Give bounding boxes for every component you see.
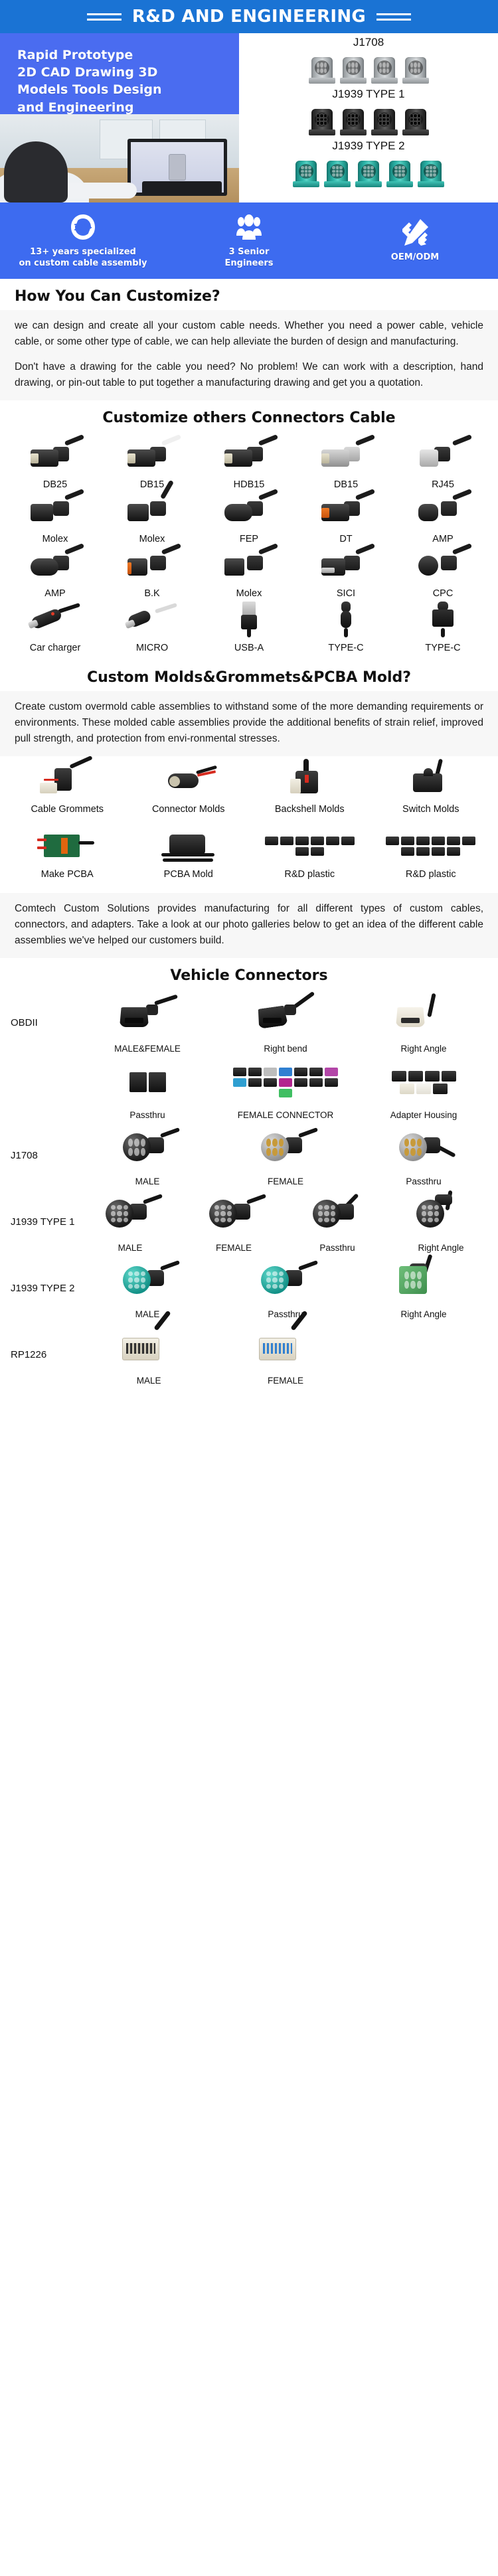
rj45-cable-icon [414,436,471,477]
type-c-icon [333,599,359,640]
hero-engineer-photo [0,114,239,202]
molex-rect-icon [220,544,278,586]
vehicle-connector-card[interactable]: MALE [78,1190,182,1253]
mold-card[interactable]: R&D plastic [371,825,492,880]
amp-round-icon [27,544,84,586]
female-connector-set-icon [232,1058,339,1107]
j1939-type2-right-angle-icon [395,1257,452,1306]
mold-card[interactable]: Connector Molds [128,760,250,815]
dsub-cable-icon [27,436,84,477]
switch-mold-icon [401,760,461,801]
vehicle-row-items: MALE Passthru Ri [78,1257,493,1319]
connector-label: TYPE-C [328,643,363,653]
connector-label: TYPE-C [425,643,460,653]
connector-card[interactable]: B.K [104,544,201,599]
vehicle-connector-card[interactable]: MALE [78,1124,216,1186]
vehicle-connectors-table: OBDII MALE&FEMALE Right bend [0,989,498,1398]
connector-card[interactable]: DB15 [104,436,201,490]
banner-rule-left-icon [87,13,122,21]
j1939-type2-passthru-icon [257,1257,314,1306]
stat-oem-odm: OEM/ODM [332,218,498,263]
rp1226-female-icon [254,1323,317,1372]
connector-label: AMP [44,588,65,599]
vehicle-row-label: J1708 [5,1150,78,1161]
connector-label: DB25 [43,479,67,490]
connector-card[interactable]: Molex [104,490,201,544]
banner-rule-right-icon [376,13,411,21]
dsub-cable-icon [124,436,181,477]
vehicle-row-items: Passthru FEMALE CONNECTOR [78,1058,493,1120]
stat-senior-engineers: 3 Senior Engineers [166,212,332,269]
connector-card[interactable]: USB-A [201,599,297,653]
connector-card[interactable]: DB25 [7,436,104,490]
vehicle-connector-card[interactable]: MALE&FEMALE [78,991,216,1054]
connector-label: B.K [144,588,159,599]
connector-mold-icon [159,760,218,801]
solutions-body-copy: Comtech Custom Solutions provides manufa… [0,893,498,958]
vehicle-connector-caption: Adapter Housing [390,1110,457,1120]
stat-years-specialized: 13+ 13+ years specialized on custom cabl… [0,212,166,269]
section-heading-vehicle-connectors: Vehicle Connectors [0,958,498,989]
vehicle-connector-caption: FEMALE [268,1176,303,1186]
j1939-type1-right-angle-icon [412,1190,469,1240]
connector-j1708-icon [340,54,367,85]
j1708-male-icon [119,1124,176,1173]
vehicle-row-items: MALE FEMALE Passthru [78,1124,493,1186]
mold-card[interactable]: Switch Molds [371,760,492,815]
vehicle-connector-caption: Right Angle [400,1309,446,1319]
section-heading-customize-others-connectors: Customize others Connectors Cable [0,400,498,432]
j1939-type2-male-icon [119,1257,176,1306]
plastic-parts-cluster [384,837,477,856]
hero-headline-line-1: Rapid Prototype [17,46,222,64]
connector-j1939-type2-icon [418,158,444,189]
others-connectors-grid: DB25 DB15 HDB15 DB15 RJ45 Molex Molex FE… [0,432,498,660]
svg-text:13+: 13+ [74,223,93,233]
connector-card[interactable]: AMP [7,544,104,599]
mold-label: Make PCBA [41,869,94,880]
plastic-parts-cluster [263,837,356,856]
vehicle-row-items: MALE FEMALE Passthru [78,1190,493,1253]
connector-card[interactable]: HDB15 [201,436,297,490]
connector-card[interactable]: TYPE-C [297,599,394,653]
dt-connector-icon [317,490,374,531]
bk-connector-icon [124,544,181,586]
section-heading-how-you-can-customize: How You Can Customize? [0,279,498,310]
connector-label: MICRO [136,643,168,653]
stat-label: 13+ years specialized on custom cable as… [19,247,147,269]
vehicle-row-label: J1939 TYPE 2 [5,1283,78,1294]
micro-usb-icon [125,599,179,640]
sici-connector-icon [317,544,374,586]
rp1226-male-icon [117,1323,181,1372]
connector-j1939-type2-icon [324,158,351,189]
connector-card[interactable]: DT [297,490,394,544]
connector-label: HDB15 [234,479,265,490]
vehicle-connector-card[interactable]: FEMALE [217,1323,354,1386]
connector-card[interactable]: Molex [201,544,297,599]
table-row: OBDII MALE&FEMALE Right bend [5,989,493,1056]
connector-j1708-icon [402,54,429,85]
stat-label: 3 Senior Engineers [225,247,274,269]
hero-section: Rapid Prototype 2D CAD Drawing 3D Models… [0,33,498,202]
vehicle-connector-card[interactable]: FEMALE [182,1190,286,1253]
connector-label: USB-A [234,643,264,653]
vehicle-connector-caption: MALE [135,1176,160,1186]
connector-label: RJ45 [432,479,454,490]
mold-card[interactable]: Make PCBA [7,825,128,880]
vehicle-row-items: MALE&FEMALE Right bend Right Angle [78,991,493,1054]
mold-label: Switch Molds [402,804,459,815]
molds-body-copy: Create custom overmold cable assemblies … [0,691,498,756]
connector-card[interactable]: FEP [201,490,297,544]
vehicle-connector-caption: FEMALE [216,1243,252,1253]
vehicle-connector-caption: MALE [135,1309,160,1319]
company-stats-strip: 13+ 13+ years specialized on custom cabl… [0,202,498,279]
hero-left-column: Rapid Prototype 2D CAD Drawing 3D Models… [0,33,239,202]
molds-grid-row-2: Make PCBA PCBA Mold R&D plastic [0,821,498,886]
vehicle-connector-caption: FEMALE [268,1376,303,1386]
j1939-type1-female-icon [205,1190,262,1240]
mold-label: Backshell Molds [275,804,345,815]
hero-connector-group-label: J1939 TYPE 2 [239,139,498,153]
table-row: Passthru FEMALE CONNECTOR [5,1056,493,1122]
molds-grid-row-1: Cable Grommets Connector Molds [0,756,498,821]
mold-card[interactable]: Cable Grommets [7,760,128,815]
connector-card[interactable]: AMP [394,490,491,544]
mold-card[interactable]: Backshell Molds [249,760,371,815]
connector-label: Molex [42,534,68,544]
connector-card[interactable]: SICI [297,544,394,599]
connector-j1939-type1-icon [402,106,429,137]
vehicle-connector-caption: MALE [137,1376,161,1386]
vehicle-connector-card[interactable]: Adapter Housing [355,1058,493,1120]
mold-card[interactable]: R&D plastic [249,825,371,880]
connector-label: DT [339,534,352,544]
vehicle-connector-card[interactable]: Right Angle [389,1190,493,1253]
connector-label: DB15 [140,479,164,490]
hero-connector-row [239,50,498,85]
connector-j1939-type2-icon [355,158,382,189]
connector-card[interactable]: DB15 [297,436,394,490]
vehicle-connector-caption: Right Angle [418,1243,463,1253]
vehicle-row-items: MALE FEMALE [78,1323,493,1386]
vehicle-row-label: J1939 TYPE 1 [5,1216,78,1228]
vehicle-connector-caption: Right Angle [400,1044,446,1054]
customize-body-copy: we can design and create all your custom… [0,310,498,400]
vehicle-row-label: RP1226 [5,1349,78,1360]
connector-j1939-type1-icon [371,106,398,137]
vehicle-connector-caption: Right bend [264,1044,307,1054]
obd-right-bend-icon [254,991,317,1040]
vehicle-connector-caption: FEMALE CONNECTOR [238,1110,334,1120]
j1708-passthru-icon [395,1124,452,1173]
vehicle-connector-card[interactable]: MALE [80,1323,217,1386]
vehicle-connector-card[interactable]: Right Angle [355,991,493,1054]
car-charger-icon [29,599,82,640]
dsub-greyhood-cable-icon [317,436,374,477]
type-c-screw-icon [430,599,456,640]
vehicle-connector-card[interactable]: Right bend [216,991,355,1054]
rd-plastic-harness-icon [384,825,477,866]
cpc-circular-icon [414,544,471,586]
molex-pair-icon [27,490,84,531]
table-row: J1939 TYPE 2 MALE Passthru [5,1255,493,1321]
mold-card[interactable]: PCBA Mold [128,825,250,880]
connector-j1708-icon [309,54,335,85]
j1939-type1-male-icon [102,1190,159,1240]
vehicle-connector-card[interactable]: Passthru [216,1257,355,1319]
connector-label: AMP [432,534,453,544]
connector-j1939-type2-icon [386,158,413,189]
vehicle-connector-card[interactable]: Passthru [286,1190,389,1253]
vehicle-connector-caption: Passthru [129,1110,165,1120]
hdb15-cable-icon [220,436,278,477]
connector-label: SICI [337,588,355,599]
vehicle-connector-card[interactable]: FEMALE CONNECTOR [216,1058,355,1120]
j1708-female-icon [257,1124,314,1173]
stat-label: OEM/ODM [391,252,439,263]
connector-card[interactable]: Molex [7,490,104,544]
vehicle-connector-card[interactable]: FEMALE [216,1124,355,1186]
hero-headline-line-2: 2D CAD Drawing 3D [17,64,222,81]
connector-j1939-type2-icon [293,158,319,189]
connector-card[interactable]: RJ45 [394,436,491,490]
vehicle-connector-card[interactable]: Right Angle [355,1257,493,1319]
connector-j1939-type1-icon [340,106,367,137]
hero-connector-group-j1939-type-2: J1939 TYPE 2 [239,139,498,189]
vehicle-connector-card[interactable]: Passthru [355,1124,493,1186]
connector-j1939-type1-icon [309,106,335,137]
obd-passthru-icon [114,1058,181,1107]
connector-card[interactable]: CPC [394,544,491,599]
hero-headline-line-3: Models Tools Design [17,81,222,98]
people-group-icon [234,212,264,242]
connector-label: DB15 [334,479,358,490]
connector-label: Molex [236,588,262,599]
connector-label: Molex [139,534,165,544]
vehicle-connector-caption: MALE&FEMALE [114,1044,181,1054]
pcba-board-icon [37,825,97,866]
connector-card[interactable]: Car charger [7,599,104,653]
hero-connector-showcase: J1708 J1939 TYPE 1 J1939 TYPE [239,33,498,202]
pcba-overmold-icon [159,825,218,866]
usb-a-icon [236,599,262,640]
connector-card[interactable]: MICRO [104,599,201,653]
connector-j1708-icon [371,54,398,85]
mold-label: PCBA Mold [164,869,213,880]
amp-2pin-icon [414,490,471,531]
hero-connector-group-label: J1708 [239,36,498,49]
hero-connector-row [239,154,498,189]
customize-paragraph-1: we can design and create all your custom… [15,318,483,350]
mold-label: Cable Grommets [31,804,104,815]
pencil-ruler-icon [400,218,430,247]
product-detail-page: R&D AND ENGINEERING Rapid Prototype 2D C… [0,0,498,1398]
connector-card[interactable]: TYPE-C [394,599,491,653]
mold-label: R&D plastic [284,869,335,880]
hero-connector-group-label: J1939 TYPE 1 [239,88,498,101]
hero-connector-group-j1939-type-1: J1939 TYPE 1 [239,88,498,137]
vehicle-connector-caption: Passthru [319,1243,355,1253]
vehicle-connector-card[interactable]: MALE [78,1257,216,1319]
vehicle-row-label: OBDII [5,1017,78,1028]
solutions-paragraph: Comtech Custom Solutions provides manufa… [15,901,483,949]
rd-plastic-parts-icon [263,825,356,866]
mold-label: Connector Molds [152,804,225,815]
table-row: J1708 MALE FEMALE [5,1122,493,1188]
mold-label: R&D plastic [406,869,456,880]
molex-angle-icon [124,490,181,531]
section-banner-rd-engineering: R&D AND ENGINEERING [0,0,498,33]
molds-paragraph: Create custom overmold cable assemblies … [15,699,483,747]
connector-label: FEP [240,534,258,544]
vehicle-connector-caption: Passthru [406,1176,441,1186]
obd-right-angle-icon [392,991,456,1040]
table-row: J1939 TYPE 1 MALE FEMALE [5,1188,493,1255]
connector-label: CPC [433,588,454,599]
hero-connector-row [239,102,498,137]
fep-round-icon [220,490,278,531]
recycle-13-plus-icon: 13+ [68,212,98,242]
hero-headline-line-4: and Engineering [17,99,222,116]
table-row: RP1226 MALE FEMALE [5,1321,493,1388]
obd-male-female-icon [116,991,179,1040]
j1939-type1-passthru-icon [309,1190,366,1240]
vehicle-connector-card[interactable]: Passthru [78,1058,216,1120]
hero-connector-group-j1708: J1708 [239,36,498,85]
vehicle-row-spacer [354,1323,491,1386]
vehicle-connector-caption: MALE [118,1243,143,1253]
banner-title: R&D AND ENGINEERING [132,7,366,27]
connector-label: Car charger [30,643,81,653]
adapter-housing-set-icon [384,1058,463,1107]
cable-grommet-icon [37,760,97,801]
backshell-mold-icon [280,760,339,801]
customize-paragraph-2: Don't have a drawing for the cable you n… [15,359,483,391]
hero-headline-block: Rapid Prototype 2D CAD Drawing 3D Models… [0,33,239,114]
section-heading-custom-molds: Custom Molds&Grommets&PCBA Mold? [0,660,498,691]
